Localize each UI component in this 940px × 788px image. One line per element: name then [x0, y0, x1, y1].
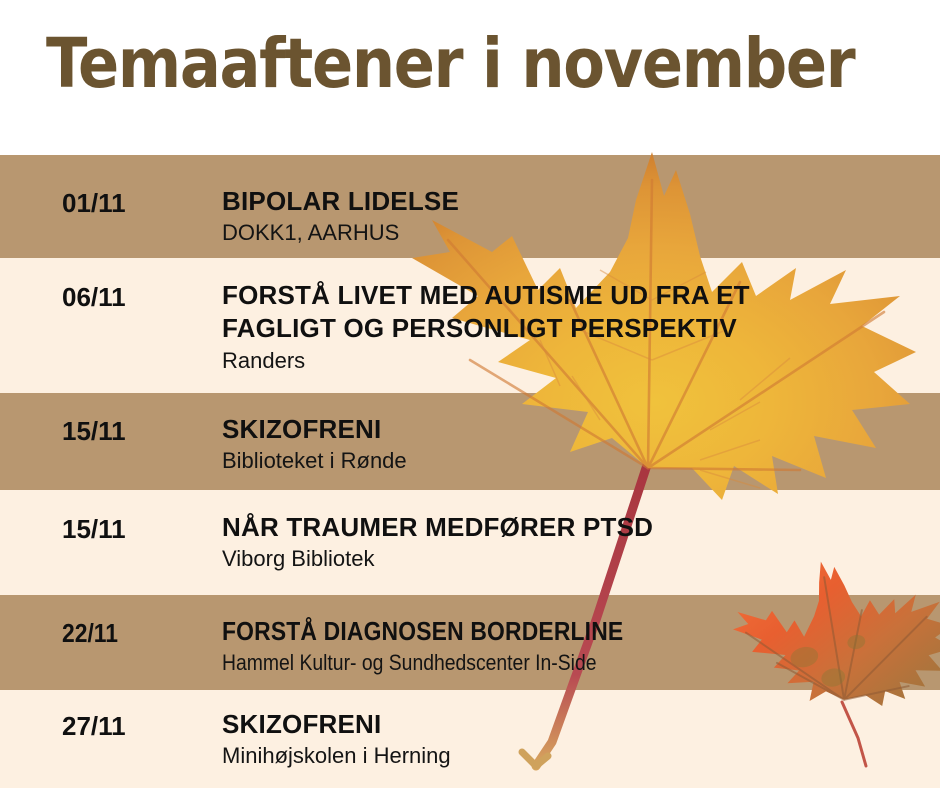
event-venue: Biblioteket i Rønde: [222, 447, 407, 476]
event-details: SKIZOFRENI Minihøjskolen i Herning: [222, 708, 451, 771]
event-details: FORSTÅ LIVET MED AUTISME UD FRA ET FAGLI…: [222, 279, 750, 375]
event-date: 22/11: [62, 618, 118, 649]
event-venue: Hammel Kultur- og Sundhedscenter In-Side: [222, 649, 623, 678]
event-title: NÅR TRAUMER MEDFØRER PTSD: [222, 511, 653, 544]
event-list: 01/11 BIPOLAR LIDELSE DOKK1, AARHUS 06/1…: [0, 0, 940, 788]
event-title: FORSTÅ DIAGNOSEN BORDERLINE: [222, 615, 623, 648]
event-venue: Minihøjskolen i Herning: [222, 742, 451, 771]
event-details: SKIZOFRENI Biblioteket i Rønde: [222, 413, 407, 476]
table-row[interactable]: 01/11 BIPOLAR LIDELSE DOKK1, AARHUS: [0, 155, 940, 258]
event-venue: Viborg Bibliotek: [222, 545, 653, 574]
event-title: BIPOLAR LIDELSE: [222, 185, 459, 218]
event-details: FORSTÅ DIAGNOSEN BORDERLINE Hammel Kultu…: [222, 615, 678, 678]
event-venue: Randers: [222, 347, 750, 376]
event-details: BIPOLAR LIDELSE DOKK1, AARHUS: [222, 185, 459, 248]
event-venue: DOKK1, AARHUS: [222, 219, 459, 248]
event-details: NÅR TRAUMER MEDFØRER PTSD Viborg Bibliot…: [222, 511, 653, 574]
event-date: 27/11: [62, 711, 126, 742]
event-date: 15/11: [62, 514, 126, 545]
event-title: FORSTÅ LIVET MED AUTISME UD FRA ET FAGLI…: [222, 279, 750, 346]
event-title: SKIZOFRENI: [222, 413, 407, 446]
poster-canvas: Temaaftener i november 01/11 BIPOLAR LID…: [0, 0, 940, 788]
table-row[interactable]: 15/11 NÅR TRAUMER MEDFØRER PTSD Viborg B…: [0, 490, 940, 595]
table-row[interactable]: 06/11 FORSTÅ LIVET MED AUTISME UD FRA ET…: [0, 258, 940, 393]
table-row[interactable]: 22/11 FORSTÅ DIAGNOSEN BORDERLINE Hammel…: [0, 595, 940, 690]
table-row[interactable]: 15/11 SKIZOFRENI Biblioteket i Rønde: [0, 393, 940, 490]
event-date: 06/11: [62, 282, 126, 313]
event-date: 15/11: [62, 416, 126, 447]
event-title: SKIZOFRENI: [222, 708, 451, 741]
table-row[interactable]: 27/11 SKIZOFRENI Minihøjskolen i Herning: [0, 690, 940, 788]
event-date: 01/11: [62, 188, 126, 219]
